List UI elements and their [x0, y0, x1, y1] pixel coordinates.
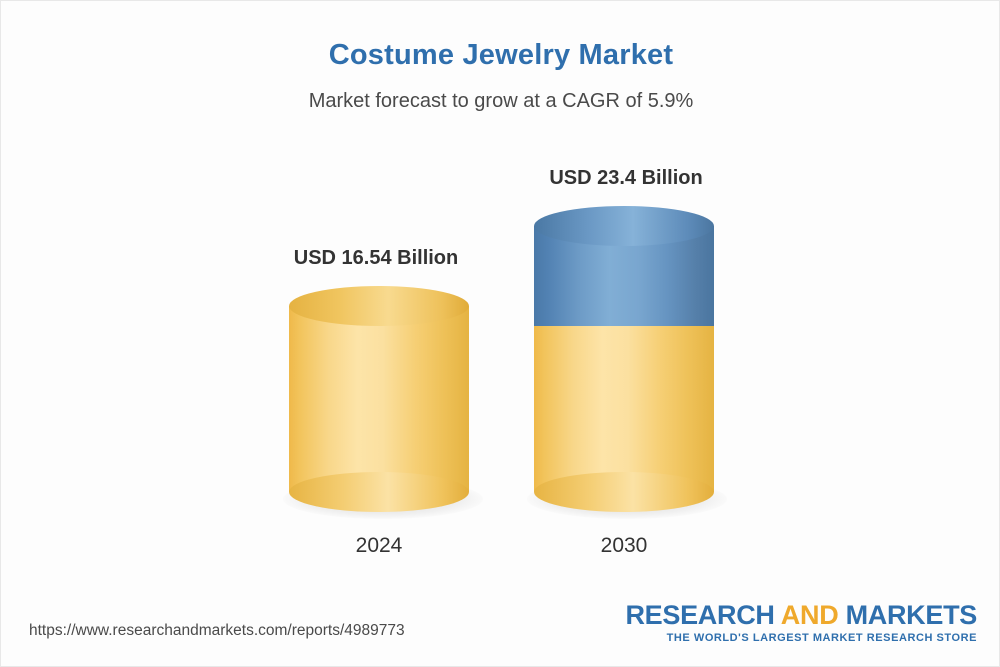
- bar-segment-2030-yellow: [534, 306, 714, 512]
- bar-segment-top-cap: [534, 206, 714, 246]
- bar-segment-bottom-cap: [289, 472, 469, 512]
- logo-tagline: THE WORLD'S LARGEST MARKET RESEARCH STOR…: [625, 632, 977, 644]
- bar-value-label-2030: USD 23.4 Billion: [476, 167, 776, 190]
- logo-wordmark: RESEARCH AND MARKETS: [625, 601, 977, 629]
- report-url[interactable]: https://www.researchandmarkets.com/repor…: [29, 622, 405, 640]
- chart-canvas: Costume Jewelry Market Market forecast t…: [0, 0, 1000, 667]
- bar-segment-body: [534, 326, 714, 492]
- bar-segment-2024-yellow: [289, 286, 469, 511]
- chart-subtitle: Market forecast to grow at a CAGR of 5.9…: [1, 90, 1000, 113]
- research-and-markets-logo: RESEARCH AND MARKETS THE WORLD'S LARGEST…: [625, 601, 977, 644]
- bar-segment-top-cap: [289, 286, 469, 326]
- bar-segment-body: [289, 306, 469, 492]
- bar-cylinder-2024: [289, 286, 469, 511]
- x-axis-tick-2030: 2030: [474, 534, 774, 558]
- bar-value-label-2024: USD 16.54 Billion: [226, 247, 526, 270]
- page-title: Costume Jewelry Market: [1, 39, 1000, 72]
- bar-segment-bottom-cap: [534, 472, 714, 512]
- bar-cylinder-2030: [534, 206, 714, 511]
- logo-text-and: AND: [775, 600, 846, 630]
- logo-text-research: RESEARCH: [625, 600, 774, 630]
- logo-text-markets: MARKETS: [846, 600, 977, 630]
